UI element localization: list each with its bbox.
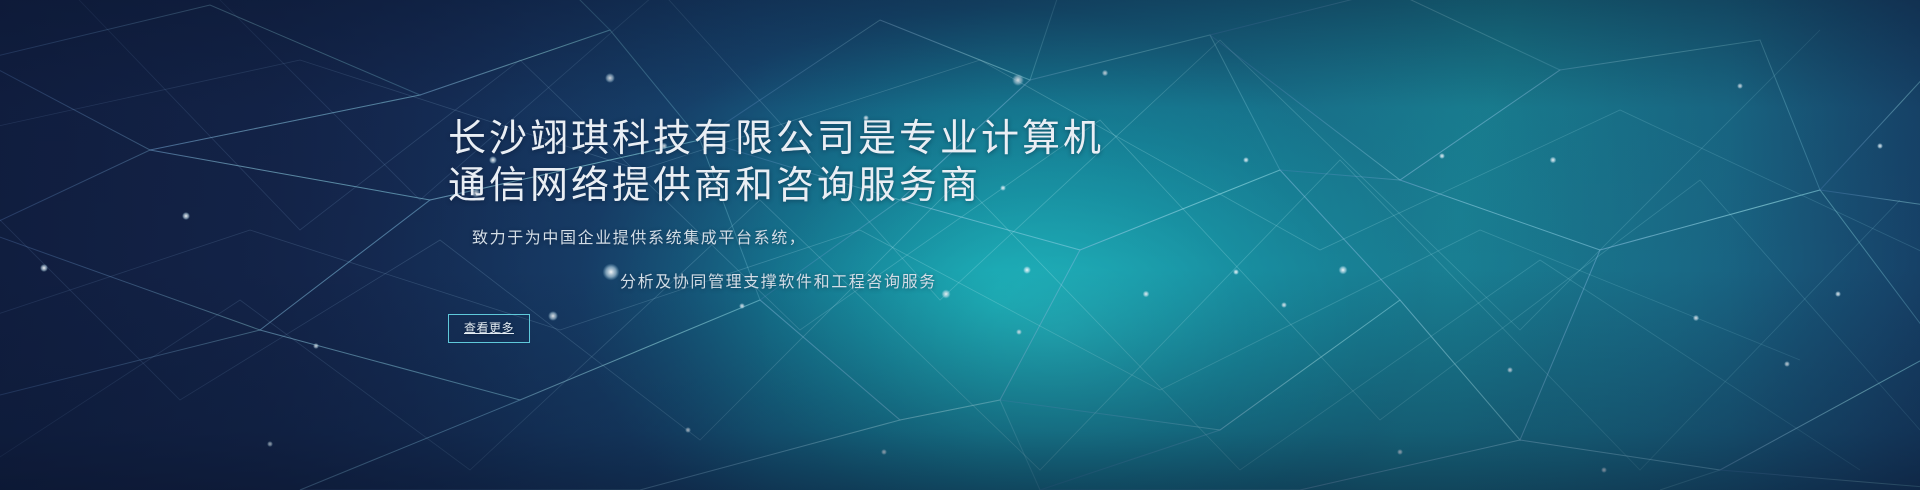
headline-line-2: 通信网络提供商和咨询服务商: [448, 163, 1548, 210]
subtitle-line-2-text: 分析及协同管理支撑软件和工程咨询服务: [620, 268, 1548, 298]
cta-row: 查看更多: [448, 314, 1548, 343]
hero-banner: 长沙翊琪科技有限公司是专业计算机 通信网络提供商和咨询服务商 致力于为中国企业提…: [0, 0, 1920, 490]
subtitle-line-1: 致力于为中国企业提供系统集成平台系统，: [472, 224, 1548, 254]
headline-line-1: 长沙翊琪科技有限公司是专业计算机: [448, 116, 1548, 163]
hero-content: 长沙翊琪科技有限公司是专业计算机 通信网络提供商和咨询服务商 致力于为中国企业提…: [448, 116, 1548, 343]
view-more-button[interactable]: 查看更多: [448, 314, 530, 343]
subtitle-line-2: 分析及协同管理支撑软件和工程咨询服务: [472, 268, 1548, 298]
